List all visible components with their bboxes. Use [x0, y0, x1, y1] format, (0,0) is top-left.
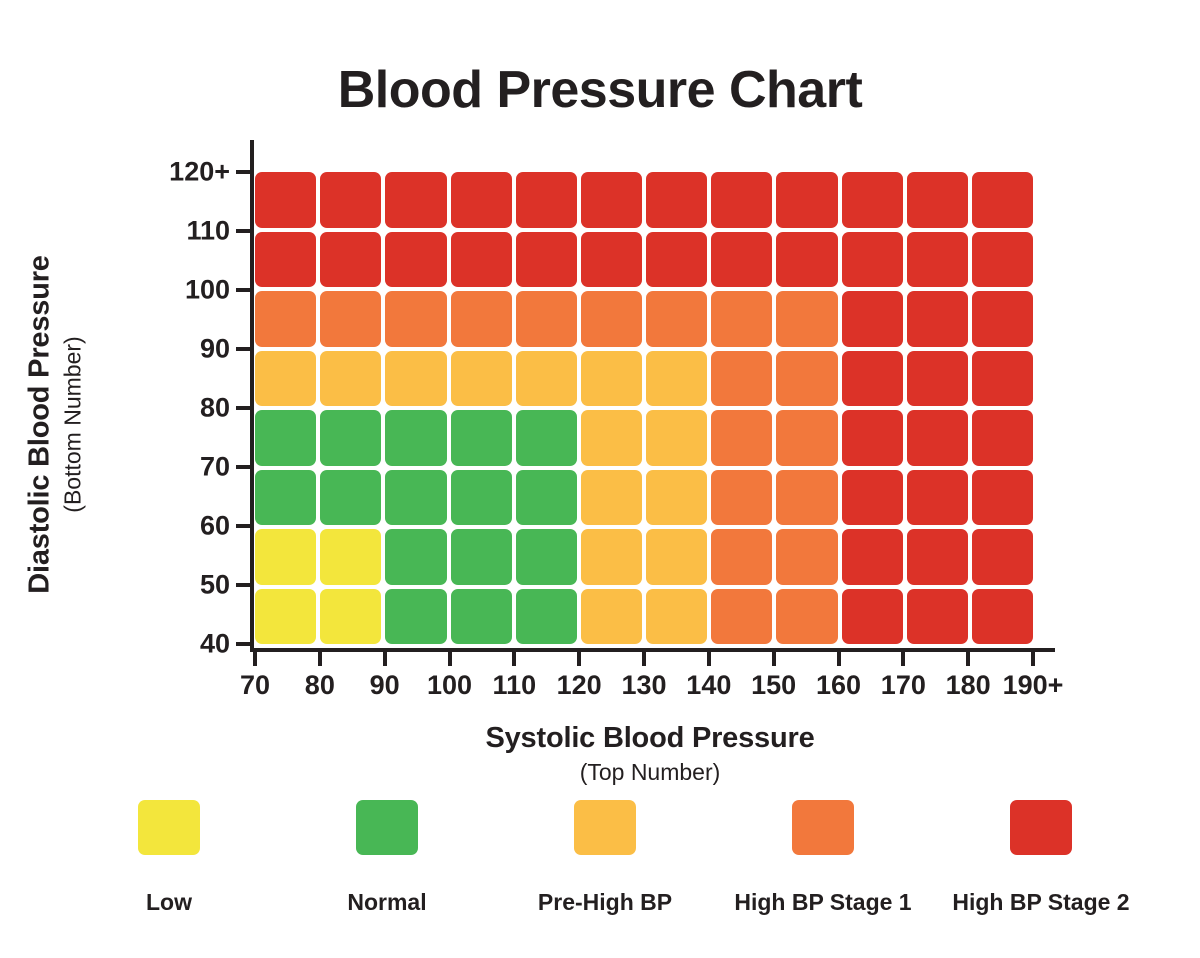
bp-cell: [320, 351, 381, 407]
bp-cell: [776, 172, 837, 228]
bp-cell: [972, 529, 1033, 585]
bp-cell: [451, 470, 512, 526]
bp-cell: [451, 351, 512, 407]
y-axis-tick-label: 100: [80, 275, 230, 306]
x-axis-title-sub: (Top Number): [230, 759, 1070, 786]
bp-cell: [907, 470, 968, 526]
bp-cell: [646, 172, 707, 228]
y-axis-tick: [236, 406, 252, 410]
y-axis-tick: [236, 229, 252, 233]
bp-cell: [255, 589, 316, 645]
legend: LowNormalPre-High BPHigh BP Stage 1High …: [60, 800, 1150, 916]
bp-cell: [320, 291, 381, 347]
y-axis-tick: [236, 288, 252, 292]
bp-cell: [451, 589, 512, 645]
bp-cell: [581, 291, 642, 347]
bp-cell: [451, 172, 512, 228]
bp-cell: [842, 470, 903, 526]
bp-cell: [711, 410, 772, 466]
bp-cell: [255, 172, 316, 228]
bp-cell: [255, 232, 316, 288]
bp-cell: [451, 291, 512, 347]
y-axis-tick-label: 40: [80, 629, 230, 660]
x-axis-tick: [901, 650, 905, 666]
x-axis-title: Systolic Blood Pressure (Top Number): [230, 722, 1070, 786]
bp-cell: [711, 470, 772, 526]
legend-label: Pre-High BP: [538, 889, 672, 916]
bp-cell: [516, 172, 577, 228]
bp-cell: [255, 410, 316, 466]
bp-cell: [385, 172, 446, 228]
y-axis-title-main: Diastolic Blood Pressure: [24, 165, 57, 685]
x-axis-tick: [383, 650, 387, 666]
bp-cell: [385, 470, 446, 526]
bp-cell: [581, 529, 642, 585]
y-axis-tick-label: 110: [80, 216, 230, 247]
bp-cell: [255, 470, 316, 526]
bp-cell: [581, 232, 642, 288]
legend-swatch: [138, 800, 200, 855]
legend-label: High BP Stage 1: [734, 889, 911, 916]
bp-cell: [972, 410, 1033, 466]
bp-cell: [646, 351, 707, 407]
x-axis-tick: [707, 650, 711, 666]
bp-cell: [451, 232, 512, 288]
legend-item: Low: [60, 800, 278, 916]
bp-cell: [516, 410, 577, 466]
x-axis-tick: [318, 650, 322, 666]
bp-cell: [907, 172, 968, 228]
x-axis-tick: [577, 650, 581, 666]
x-axis-line: [250, 648, 1055, 652]
bp-cell: [776, 589, 837, 645]
bp-cell: [320, 232, 381, 288]
bp-cell: [711, 589, 772, 645]
bp-cell: [907, 529, 968, 585]
bp-cell: [711, 291, 772, 347]
y-axis-tick: [236, 465, 252, 469]
y-axis-tick: [236, 347, 252, 351]
y-axis-tick-label: 80: [80, 393, 230, 424]
y-axis-tick: [236, 524, 252, 528]
x-axis-tick: [1031, 650, 1035, 666]
bp-cell: [842, 291, 903, 347]
bp-cell: [516, 589, 577, 645]
bp-cell: [255, 351, 316, 407]
bp-cell: [581, 351, 642, 407]
y-axis-tick: [236, 642, 252, 646]
bp-cell: [385, 410, 446, 466]
y-axis-tick-label: 50: [80, 570, 230, 601]
bp-cell: [972, 589, 1033, 645]
bp-cell: [972, 291, 1033, 347]
x-axis-tick: [253, 650, 257, 666]
bp-cell: [776, 291, 837, 347]
bp-cell: [646, 470, 707, 526]
bp-cell: [516, 351, 577, 407]
legend-item: High BP Stage 1: [714, 800, 932, 916]
y-axis-tick-label: 70: [80, 452, 230, 483]
bp-cell: [255, 529, 316, 585]
bp-cell: [776, 232, 837, 288]
bp-cell: [842, 351, 903, 407]
bp-cell: [320, 529, 381, 585]
x-axis-tick: [772, 650, 776, 666]
bp-cell: [646, 589, 707, 645]
bp-cell: [516, 470, 577, 526]
bp-cell: [516, 291, 577, 347]
bp-cell: [320, 470, 381, 526]
bp-cell: [451, 410, 512, 466]
bp-cell: [385, 351, 446, 407]
legend-swatch: [356, 800, 418, 855]
bp-cell: [972, 470, 1033, 526]
bp-cell: [842, 410, 903, 466]
x-axis-tick: [512, 650, 516, 666]
y-axis-line: [250, 140, 254, 652]
y-axis-title-sub: (Bottom Number): [60, 165, 87, 685]
bp-cell: [385, 589, 446, 645]
x-axis-title-main: Systolic Blood Pressure: [230, 722, 1070, 755]
bp-cell: [320, 172, 381, 228]
legend-swatch: [574, 800, 636, 855]
y-axis-tick-label: 90: [80, 334, 230, 365]
x-axis-tick: [966, 650, 970, 666]
bp-cell: [972, 172, 1033, 228]
bp-cell: [646, 291, 707, 347]
bp-cell: [907, 410, 968, 466]
bp-cell: [711, 232, 772, 288]
bp-cell: [516, 529, 577, 585]
bp-cell: [842, 172, 903, 228]
bp-cell: [516, 232, 577, 288]
blood-pressure-chart: Blood Pressure Chart 4050607080901001101…: [0, 0, 1200, 958]
bp-cell: [320, 410, 381, 466]
bp-cell: [385, 232, 446, 288]
bp-cell: [646, 410, 707, 466]
bp-cell: [842, 232, 903, 288]
bp-cell: [581, 410, 642, 466]
bp-cell: [581, 589, 642, 645]
bp-cell: [776, 529, 837, 585]
bp-cell: [842, 589, 903, 645]
x-axis-tick: [448, 650, 452, 666]
bp-cell: [842, 529, 903, 585]
bp-cell: [581, 470, 642, 526]
bp-cell: [972, 351, 1033, 407]
y-axis-title: Diastolic Blood Pressure (Bottom Number): [24, 165, 87, 685]
bp-cell: [711, 172, 772, 228]
legend-item: High BP Stage 2: [932, 800, 1150, 916]
x-axis-tick: [837, 650, 841, 666]
bp-cell: [972, 232, 1033, 288]
legend-swatch: [792, 800, 854, 855]
bp-cell: [776, 351, 837, 407]
bp-cell: [711, 351, 772, 407]
y-axis-tick-label: 120+: [80, 157, 230, 188]
bp-cell: [385, 529, 446, 585]
bp-cell: [255, 291, 316, 347]
bp-cell: [907, 589, 968, 645]
y-axis-tick-label: 60: [80, 511, 230, 542]
legend-label: High BP Stage 2: [952, 889, 1129, 916]
legend-label: Normal: [347, 889, 426, 916]
bp-cell: [581, 172, 642, 228]
bp-cell: [385, 291, 446, 347]
bp-cell: [646, 529, 707, 585]
legend-swatch: [1010, 800, 1072, 855]
x-axis-tick: [642, 650, 646, 666]
bp-cell: [776, 410, 837, 466]
y-axis-tick: [236, 170, 252, 174]
bp-cell: [907, 291, 968, 347]
bp-cell: [646, 232, 707, 288]
bp-cell: [711, 529, 772, 585]
bp-cell: [907, 232, 968, 288]
bp-cell: [776, 470, 837, 526]
bp-cell: [451, 529, 512, 585]
legend-item: Pre-High BP: [496, 800, 714, 916]
x-axis-tick-label: 190+: [973, 670, 1093, 701]
bp-cell: [907, 351, 968, 407]
legend-label: Low: [146, 889, 192, 916]
legend-item: Normal: [278, 800, 496, 916]
bp-cell-grid: [255, 172, 1033, 644]
bp-cell: [320, 589, 381, 645]
y-axis-tick: [236, 583, 252, 587]
